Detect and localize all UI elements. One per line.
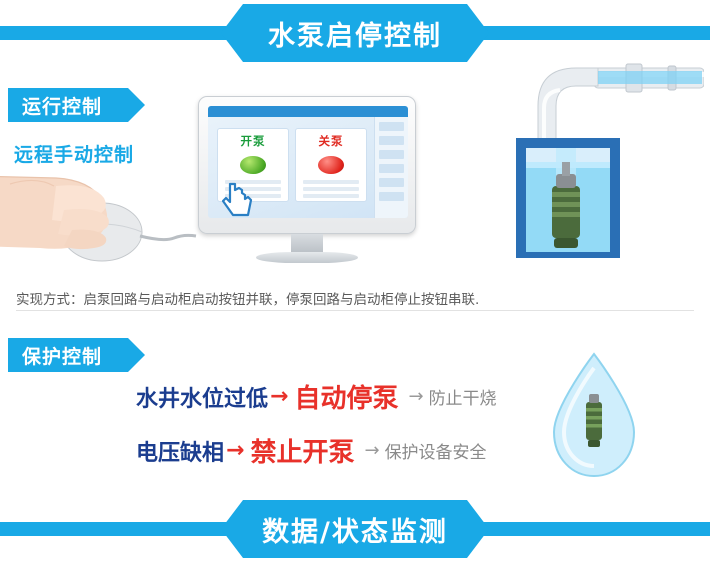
bottom-banner-title: 数据/状态监测 bbox=[262, 510, 448, 549]
rule-action: 自动停泵 bbox=[294, 378, 398, 415]
banner-bar-left bbox=[0, 522, 232, 536]
screen-topbar bbox=[208, 106, 408, 117]
screen-sidebar-row bbox=[379, 136, 404, 145]
rule-result-arrow-icon: → bbox=[408, 386, 423, 407]
screen-sidebar-row bbox=[379, 178, 404, 187]
hand-icon bbox=[0, 150, 214, 278]
infographic-page: 水泵启停控制 运行控制 远程手动控制 bbox=[0, 0, 710, 564]
top-banner-plate: 水泵启停控制 bbox=[221, 4, 489, 62]
stop-panel-bars bbox=[303, 180, 359, 201]
ribbon-protect-control: 保护控制 bbox=[8, 338, 128, 372]
stop-pump-panel[interactable]: 关泵 bbox=[295, 128, 367, 202]
rule-arrow-icon: → bbox=[270, 384, 288, 409]
ribbon-run-control-label: 运行控制 bbox=[22, 92, 102, 119]
protection-rule-row: 电压缺相 → 禁止开泵 → 保护设备安全 bbox=[136, 432, 487, 469]
rule-condition: 电压缺相 bbox=[136, 435, 224, 467]
top-banner: 水泵启停控制 bbox=[0, 4, 710, 64]
green-round-button[interactable] bbox=[240, 156, 266, 174]
banner-bar-right bbox=[478, 26, 710, 40]
water-drop-icon bbox=[540, 350, 648, 482]
red-round-button[interactable] bbox=[318, 156, 344, 174]
screen-sidebar-row bbox=[379, 122, 404, 131]
stop-pump-label: 关泵 bbox=[319, 133, 344, 149]
submersible-pump-icon bbox=[498, 62, 704, 262]
banner-bar-left bbox=[0, 26, 232, 40]
protection-rule-row: 水井水位过低 → 自动停泵 → 防止干烧 bbox=[136, 378, 497, 415]
ribbon-protect-control-label: 保护控制 bbox=[22, 342, 102, 369]
bottom-banner: 数据/状态监测 bbox=[0, 500, 710, 560]
banner-bar-right bbox=[478, 522, 710, 536]
rule-result-arrow-icon: → bbox=[364, 440, 379, 461]
rule-action: 禁止开泵 bbox=[250, 432, 354, 469]
rule-arrow-icon: → bbox=[226, 438, 244, 463]
start-pump-label: 开泵 bbox=[241, 133, 266, 149]
desktop-monitor-icon: 开泵 关泵 bbox=[198, 96, 428, 266]
ribbon-run-control: 运行控制 bbox=[8, 88, 128, 122]
screen-sidebar bbox=[374, 117, 408, 218]
rule-condition: 水井水位过低 bbox=[136, 381, 268, 413]
screen-sidebar-row bbox=[379, 150, 404, 159]
screen-sidebar-row bbox=[379, 192, 404, 201]
top-banner-title: 水泵启停控制 bbox=[268, 14, 442, 53]
rule-result: 防止干烧 bbox=[429, 384, 497, 409]
implementation-note: 实现方式：启泵回路与启动柜启动按钮并联，停泵回路与启动柜停止按钮串联. bbox=[16, 288, 676, 308]
section-divider bbox=[16, 310, 694, 311]
monitor-neck bbox=[291, 234, 323, 254]
bottom-banner-plate: 数据/状态监测 bbox=[221, 500, 489, 558]
rule-result: 保护设备安全 bbox=[385, 438, 487, 463]
monitor-base bbox=[256, 252, 358, 263]
screen-sidebar-row bbox=[379, 164, 404, 173]
